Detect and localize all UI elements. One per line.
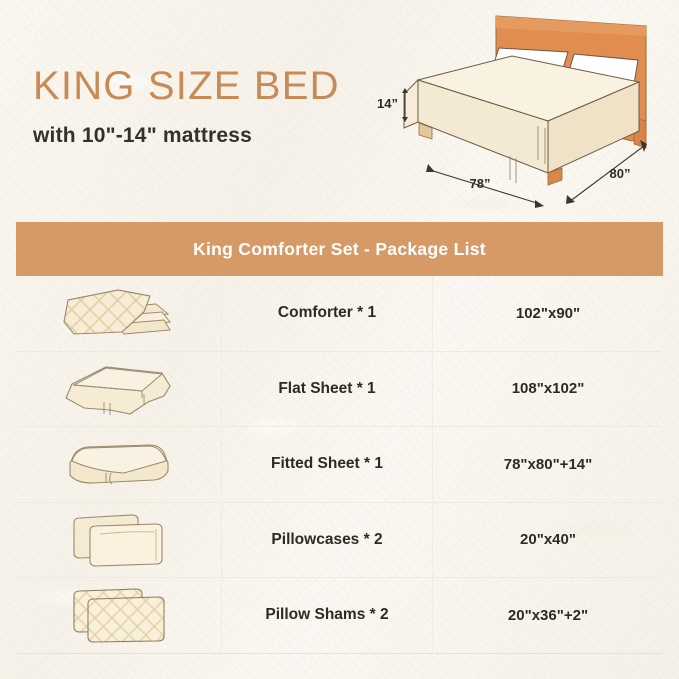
width-arrow-right	[535, 200, 544, 208]
infographic-page: KING SIZE BED with 10"-14" mattress	[0, 0, 679, 679]
table-row: Comforter * 1 102"x90"	[16, 276, 663, 352]
table-banner-label: King Comforter Set - Package List	[193, 239, 486, 260]
pillowcases-icon	[44, 509, 194, 571]
row-image-cell	[16, 352, 222, 427]
table-row: Flat Sheet * 1 108"x102"	[16, 352, 663, 428]
page-title: KING SIZE BED	[33, 66, 340, 106]
row-item-name: Comforter * 1	[222, 276, 433, 351]
fitted-sheet-icon	[44, 433, 194, 495]
row-item-name: Flat Sheet * 1	[222, 352, 433, 427]
bed-corner-drape	[404, 80, 418, 128]
pillow-sham-front	[88, 597, 164, 642]
table-row: Fitted Sheet * 1 78"x80"+14"	[16, 427, 663, 503]
folded-comforter-icon	[44, 282, 194, 344]
row-item-size: 20"x40"	[433, 503, 663, 578]
page-subtitle: with 10"-14" mattress	[33, 124, 340, 148]
table-row: Pillow Shams * 2 20"x36"+2"	[16, 578, 663, 654]
length-arrow-near	[566, 195, 575, 204]
row-image-cell	[16, 578, 222, 653]
row-item-size: 78"x80"+14"	[433, 427, 663, 502]
pillowcase-front	[90, 524, 162, 566]
row-image-cell	[16, 427, 222, 502]
table-row: Pillowcases * 2 20"x40"	[16, 503, 663, 579]
row-image-cell	[16, 276, 222, 351]
row-item-name: Pillow Shams * 2	[222, 578, 433, 653]
row-item-name: Fitted Sheet * 1	[222, 427, 433, 502]
width-dimension-label: 78”	[470, 176, 491, 191]
row-item-size: 20"x36"+2"	[433, 578, 663, 653]
row-item-size: 102"x90"	[433, 276, 663, 351]
bed-diagram-svg: 14” 78” 80”	[362, 8, 679, 213]
row-image-cell	[16, 503, 222, 578]
height-dimension-label: 14”	[377, 96, 398, 111]
row-item-name: Pillowcases * 2	[222, 503, 433, 578]
header-block: KING SIZE BED with 10"-14" mattress	[33, 66, 340, 148]
pillow-shams-icon	[44, 584, 194, 646]
row-item-size: 108"x102"	[433, 352, 663, 427]
flat-sheet-icon	[44, 358, 194, 420]
width-arrow-left	[426, 164, 435, 172]
length-dimension-label: 80”	[610, 166, 631, 181]
bed-diagram: 14” 78” 80”	[362, 8, 679, 213]
package-list-table: King Comforter Set - Package List	[16, 222, 663, 654]
table-header-banner: King Comforter Set - Package List	[16, 222, 663, 276]
